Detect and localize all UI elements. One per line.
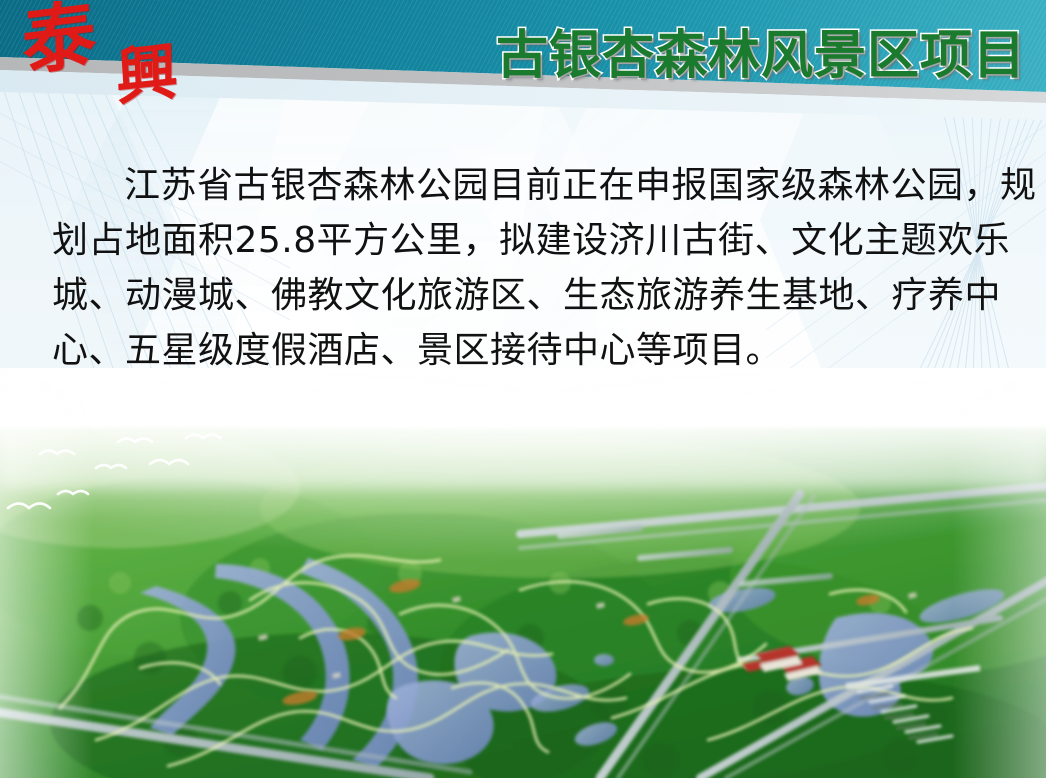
body-line-4: 心、五星级度假酒店、景区接待中心等项目。: [52, 323, 1002, 378]
body-line-1: 江苏省古银杏森林公园目前正在申报国家级森林公园，规: [52, 158, 1002, 213]
body-paragraph: 江苏省古银杏森林公园目前正在申报国家级森林公园，规 划占地面积25.8平方公里，…: [52, 158, 1002, 378]
body-line-3: 城、动漫城、佛教文化旅游区、生态旅游养生基地、疗养中: [52, 268, 1002, 323]
page-title: 古银杏森林风景区项目: [496, 30, 1026, 82]
aerial-park-masterplan-render: [0, 368, 1046, 778]
logo-char-tai: 泰: [21, 0, 97, 81]
taixing-seal-logo: 泰 興: [18, 2, 208, 120]
body-line-2: 划占地面积25.8平方公里，拟建设济川古街、文化主题欢乐: [52, 213, 1002, 268]
slide-root: 泰 興 古银杏森林风景区项目 江苏省古银杏森林公园目前正在申报国家级森林公园，规…: [0, 0, 1046, 778]
logo-char-xing: 興: [115, 41, 179, 110]
